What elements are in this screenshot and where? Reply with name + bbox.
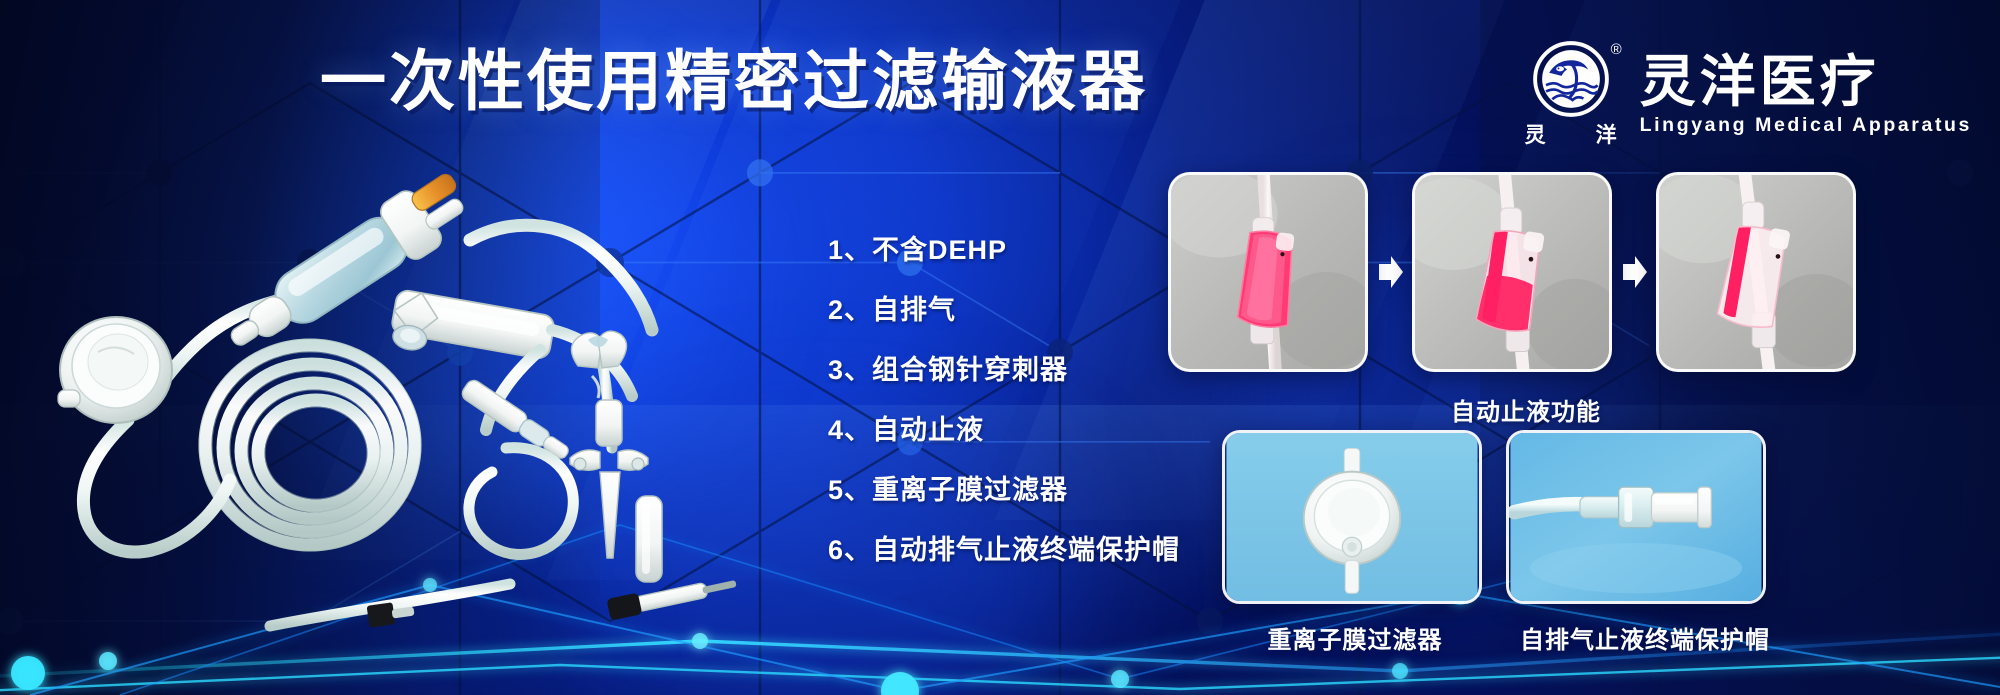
right-arrow-icon [1612, 252, 1656, 292]
list-item: 3、组合钢针穿刺器 [828, 348, 1180, 387]
product-banner: 一次性使用精密过滤输液器 ® 灵 [0, 0, 2000, 695]
caption-terminal-cap: 自排气止液终端保护帽 [1512, 620, 1778, 655]
emblem-sub-left: 灵 [1525, 119, 1546, 149]
detail-captions: 重离子膜过滤器 自排气止液终端保护帽 [1222, 620, 1778, 655]
list-item: 1、不含DEHP [828, 228, 1180, 267]
iv-infusion-set-photo [40, 180, 740, 650]
logo-emblem: ® 灵 洋 [1522, 40, 1620, 149]
brand-name-en: Lingyang Medical Apparatus [1640, 116, 1972, 136]
auto-stop-caption: 自动止液功能 [1168, 392, 1884, 427]
list-item: 6、自动排气止液终端保护帽 [828, 528, 1180, 567]
page-title: 一次性使用精密过滤输液器 [320, 48, 1148, 114]
heavy-ion-membrane-filter-photo [1222, 430, 1482, 604]
lingyang-wave-emblem-icon [1532, 40, 1610, 118]
list-item: 5、重离子膜过滤器 [828, 468, 1180, 507]
detail-shots-row [1222, 430, 1766, 604]
right-arrow-icon [1368, 252, 1412, 292]
self-venting-terminal-cap-photo [1506, 430, 1766, 604]
caption-filter: 重离子膜过滤器 [1222, 620, 1488, 655]
drip-chamber-half-photo [1412, 172, 1612, 372]
drip-chamber-empty-photo [1656, 172, 1856, 372]
emblem-sub-right: 洋 [1596, 119, 1617, 149]
terminal-protective-cap [636, 496, 662, 582]
brand-name-cn: 灵洋医疗 [1640, 54, 1972, 110]
registered-trademark-icon: ® [1611, 42, 1622, 57]
list-item: 4、自动止液 [828, 408, 1180, 447]
list-item: 2、自排气 [828, 288, 1180, 327]
feature-list: 1、不含DEHP 2、自排气 3、组合钢针穿刺器 4、自动止液 5、重离子膜过滤… [828, 228, 1180, 567]
auto-stop-sequence-row [1168, 172, 1856, 372]
drip-chamber-full-photo [1168, 172, 1368, 372]
round-membrane-filter [58, 317, 172, 423]
brand-logo: ® 灵 洋 灵洋医疗 Lingyang Medical Apparatus [1522, 40, 1972, 149]
